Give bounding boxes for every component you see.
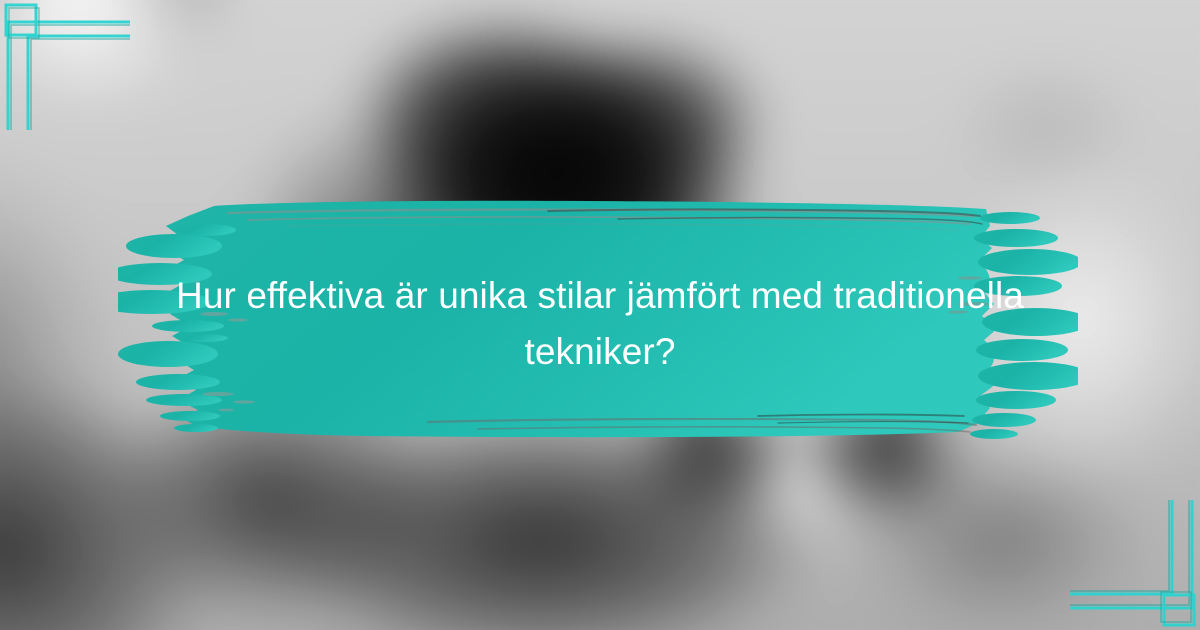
social-share-card: Hur effektiva är unika stilar jämfört me… (0, 0, 1200, 630)
page-title: Hur effektiva är unika stilar jämfört me… (170, 268, 1030, 380)
